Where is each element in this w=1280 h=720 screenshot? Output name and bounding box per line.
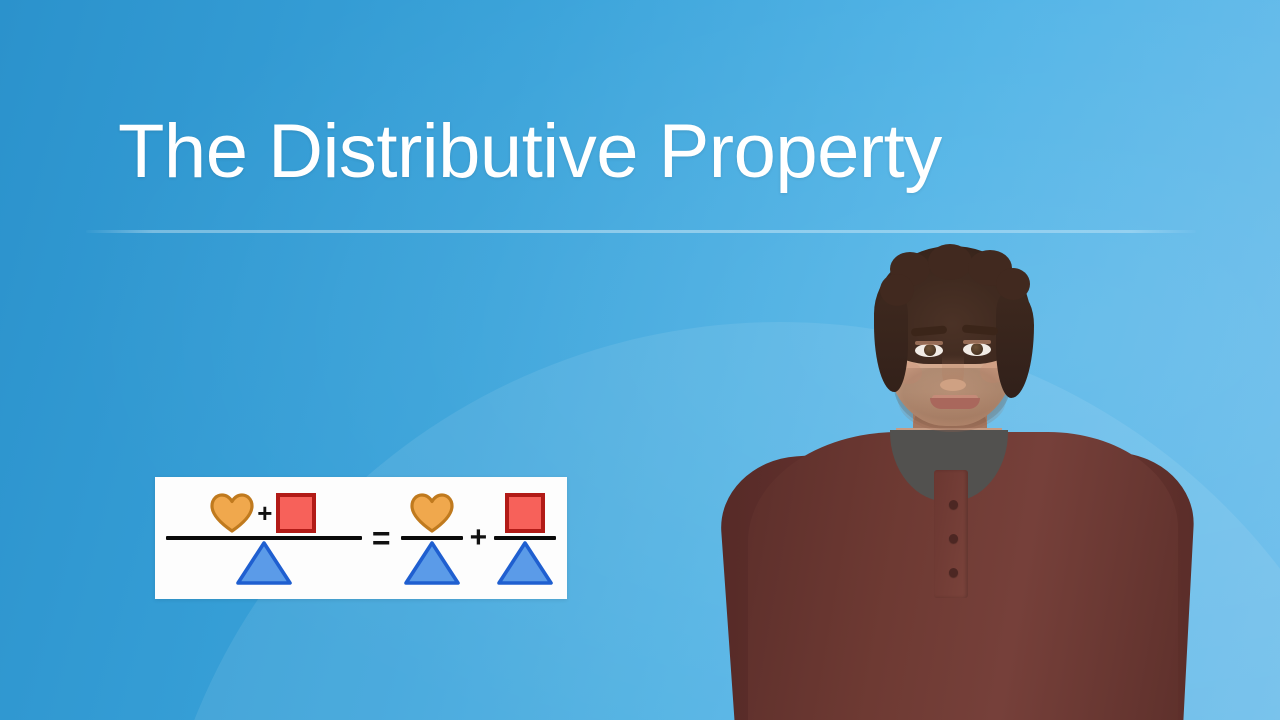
fraction-right-first-denominator (403, 540, 461, 586)
fraction-left-denominator (235, 540, 293, 586)
presenter-figure (690, 0, 1280, 720)
square-icon (504, 492, 546, 534)
fraction-left-numerator: + (210, 490, 317, 536)
presenter-hair-right (996, 294, 1034, 398)
shirt-button (949, 568, 958, 577)
fraction-right-first-numerator (410, 490, 454, 536)
triangle-icon (496, 540, 554, 586)
fraction-right-first (401, 490, 463, 586)
presenter-hair-curl (880, 274, 914, 306)
fraction-left: + (166, 490, 362, 586)
shirt-button (949, 500, 958, 509)
equation-card: + = (155, 477, 567, 599)
presenter-hair-curl (996, 268, 1030, 300)
presenter-mouth (930, 398, 980, 409)
triangle-icon (403, 540, 461, 586)
equals-sign: = (372, 522, 391, 554)
presenter-iris-right (971, 343, 983, 355)
presenter-nose-tip (940, 379, 966, 391)
shirt-button (949, 534, 958, 543)
presenter-eyelid-left (915, 341, 943, 345)
presenter-hair-curl (928, 244, 972, 280)
plus-sign-outer: + (470, 523, 488, 553)
presenter-eyelid-right (963, 340, 991, 344)
slide-canvas: The Distributive Property + = (0, 0, 1280, 720)
square-icon (275, 492, 317, 534)
fraction-right-second-denominator (496, 540, 554, 586)
heart-icon (210, 493, 254, 533)
fraction-right-second (494, 490, 556, 586)
triangle-icon (235, 540, 293, 586)
plus-sign-inner: + (257, 500, 272, 526)
fraction-right-second-numerator (504, 490, 546, 536)
heart-icon (410, 493, 454, 533)
presenter-iris-left (924, 344, 936, 356)
presenter-hair-left (874, 296, 908, 392)
